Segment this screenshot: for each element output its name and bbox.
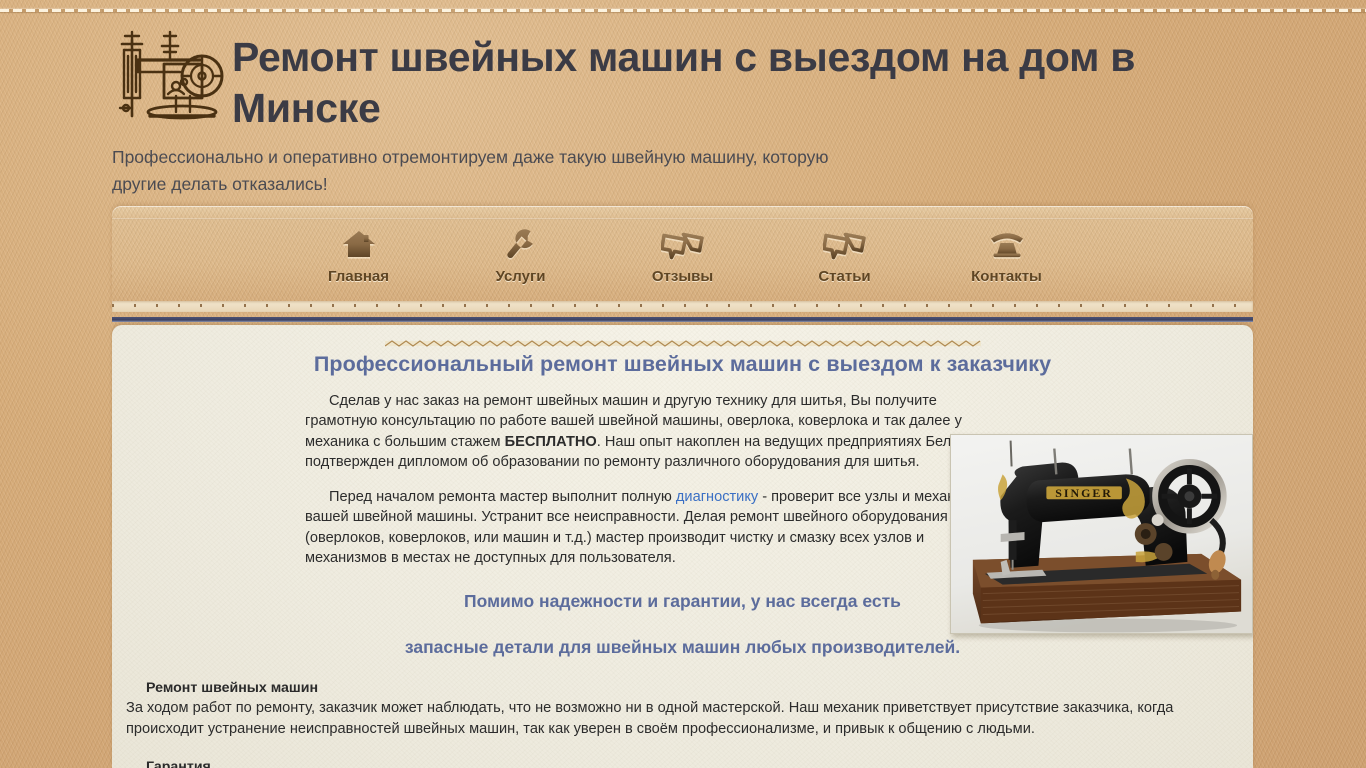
sewing-machine-logo-icon: [110, 20, 226, 132]
nav-label: Главная: [300, 268, 418, 285]
nav-label: Услуги: [462, 268, 580, 285]
nav-label: Контакты: [948, 268, 1066, 285]
svg-text:SINGER: SINGER: [1055, 486, 1113, 500]
primary-navigation: Главная: [112, 206, 1253, 322]
photo-frame: SINGER: [950, 434, 1253, 634]
paragraph-2-part-1: Перед началом ремонта мастер выполнит по…: [329, 489, 676, 505]
nav-item-glavnaya[interactable]: Главная: [300, 228, 418, 285]
feature-text: За ходом работ по ремонту, заказчик може…: [126, 698, 1243, 739]
nav-label: Статьи: [786, 268, 904, 285]
content-panel: Профессиональный ремонт швейных машин с …: [112, 325, 1253, 768]
feature-title: Гарантия: [126, 759, 1243, 768]
page-title: Ремонт швейных машин с выездом на дом в …: [232, 18, 1192, 134]
home-icon: [300, 228, 418, 262]
nav-item-otzyvy[interactable]: Отзывы: [624, 228, 742, 285]
header-top-row: Ремонт швейных машин с выездом на дом в …: [110, 18, 1250, 134]
nav-leather-bar: Главная: [112, 206, 1253, 312]
site-header: Ремонт швейных машин с выездом на дом в …: [110, 18, 1250, 198]
feature-block-repair: Ремонт швейных машин За ходом работ по р…: [112, 680, 1253, 739]
feature-title: Ремонт швейных машин: [126, 680, 1243, 696]
nav-label: Отзывы: [624, 268, 742, 285]
speech-bubbles-icon: [624, 228, 742, 262]
page-subtitle: Профессионально и оперативно отремонтиру…: [112, 144, 832, 198]
nav-item-kontakty[interactable]: Контакты: [948, 228, 1066, 285]
nav-item-uslugi[interactable]: Услуги: [462, 228, 580, 285]
speech-bubbles-icon: [786, 228, 904, 262]
nav-item-stati[interactable]: Статьи: [786, 228, 904, 285]
intro-paragraph-1: Сделав у нас заказ на ремонт швейных маш…: [305, 391, 1005, 472]
nav-underline-accent: [112, 317, 1253, 322]
sewing-machine-photo: SINGER: [950, 434, 1253, 634]
telephone-icon: [948, 228, 1066, 262]
main-heading: Профессиональный ремонт швейных машин с …: [112, 325, 1253, 377]
top-stitch-divider: [0, 9, 1366, 12]
diagnostics-link[interactable]: диагностику: [676, 489, 758, 505]
feature-block-warranty: Гарантия: [112, 759, 1253, 768]
nav-stitch-seam: [112, 301, 1253, 312]
wrench-icon: [462, 228, 580, 262]
nav-item-list: Главная: [112, 228, 1253, 285]
promo-line-2: запасные детали для швейных машин любых …: [112, 637, 1253, 658]
intro-paragraph-2: Перед началом ремонта мастер выполнит по…: [305, 487, 1005, 568]
decorative-stitch-divider: [385, 335, 981, 344]
paragraph-1-bold: БЕСПЛАТНО: [505, 434, 597, 450]
intro-body: SINGER: [112, 377, 1253, 568]
